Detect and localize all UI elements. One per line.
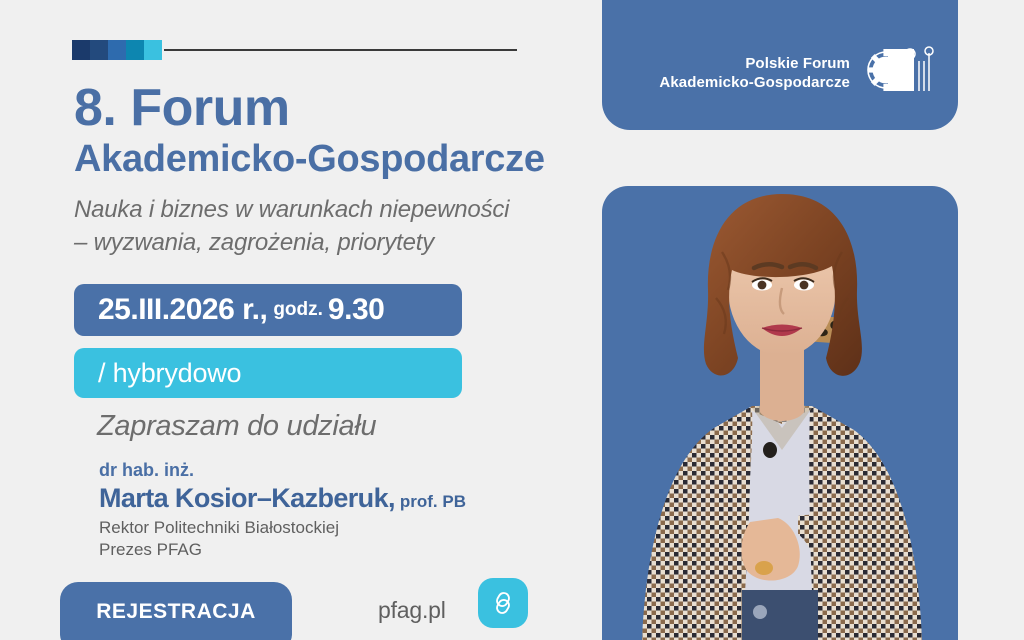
page-title-line2: Akademicko-Gospodarcze [74,140,545,180]
swatch-4 [126,40,144,60]
swatch-5 [144,40,162,60]
speaker-name: Marta Kosior–Kazberuk, [99,483,395,514]
page-title-line1: 8. Forum [74,82,290,134]
invitation-text: Zapraszam do udziału [97,410,376,443]
logo-line1: Polskie Forum [659,55,850,74]
horizontal-rule [164,49,517,51]
time-label: godz. [273,299,323,321]
website-label[interactable]: pfag.pl [378,597,446,624]
swatch-1 [72,40,90,60]
speaker-name-suffix: prof. PB [400,492,466,512]
swatch-3 [108,40,126,60]
date-value: 25.III.2026 r., [98,293,267,327]
logo-text: Polskie Forum Akademicko-Gospodarcze [659,55,850,93]
time-value: 9.30 [328,293,384,327]
chain-link-icon[interactable] [478,578,528,628]
color-swatch-bar [72,40,162,60]
speaker-role-line1: Rektor Politechniki Białostockiej [99,518,339,538]
logo-line2: Akademicko-Gospodarcze [659,74,850,93]
subtitle: Nauka i biznes w warunkach niepewności –… [74,193,509,259]
gear-emblem-icon [860,43,936,104]
subtitle-line1: Nauka i biznes w warunkach niepewności [74,193,509,226]
accent-rule [72,40,452,60]
event-poster: 8. Forum Akademicko-Gospodarcze Nauka i … [0,0,1024,640]
swatch-2 [90,40,108,60]
speaker-academic-title: dr hab. inż. [99,460,194,481]
format-badge: / hybrydowo [74,348,462,398]
registration-button[interactable]: REJESTRACJA [60,582,292,640]
speaker-role-line2: Prezes PFAG [99,540,202,560]
logo-header-panel: Polskie Forum Akademicko-Gospodarcze [602,0,958,130]
logo-lockup: Polskie Forum Akademicko-Gospodarcze [659,43,936,104]
left-content-column: 8. Forum Akademicko-Gospodarcze Nauka i … [0,0,600,640]
speaker-name-row: Marta Kosior–Kazberuk, prof. PB [99,483,466,514]
avatar [602,120,958,640]
subtitle-line2: – wyzwania, zagrożenia, priorytety [74,226,509,259]
date-badge: 25.III.2026 r., godz. 9.30 [74,284,462,336]
